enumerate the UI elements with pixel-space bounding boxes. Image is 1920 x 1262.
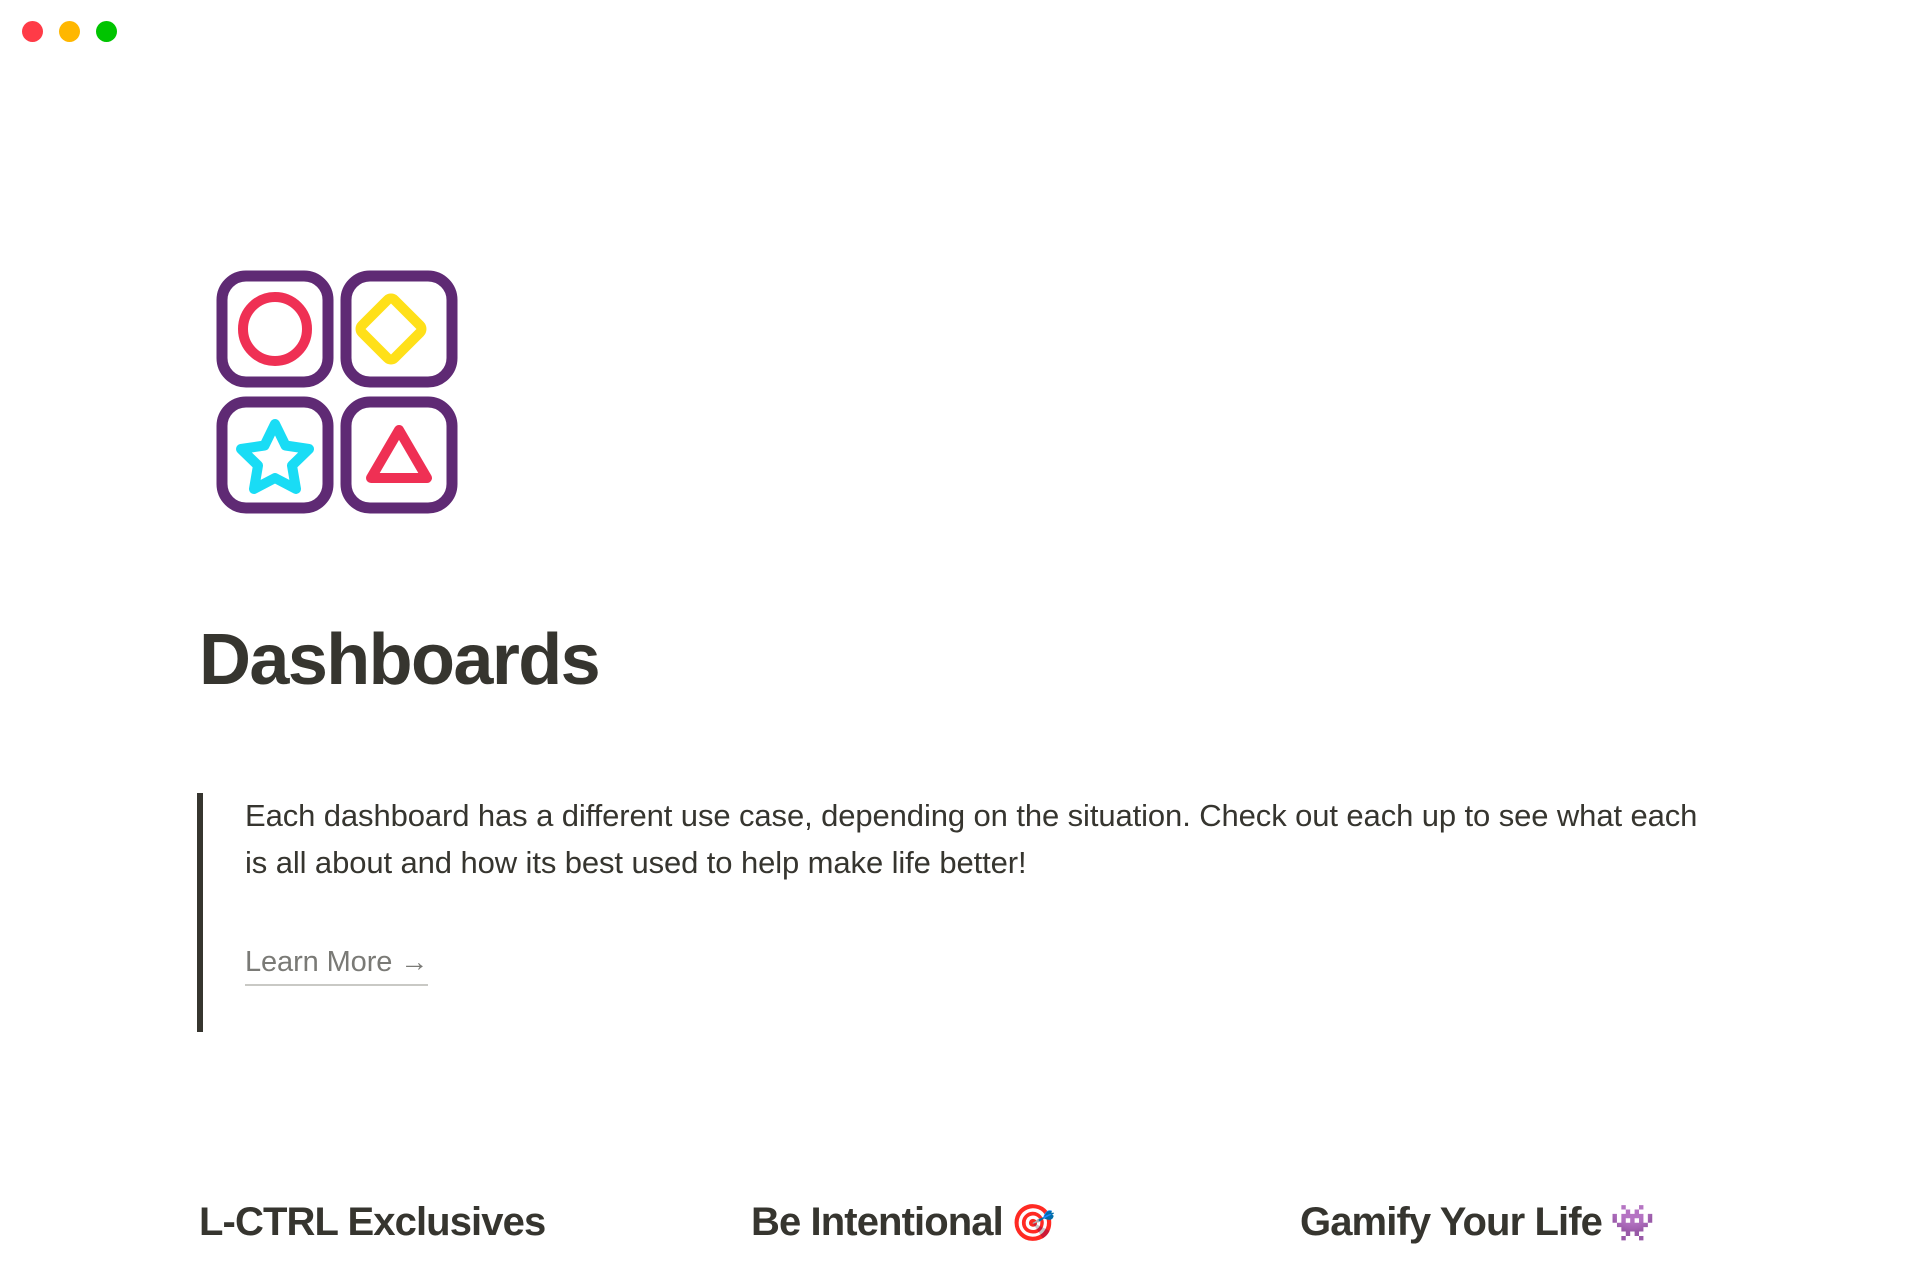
hero-callout: Each dashboard has a different use case,… xyxy=(197,793,1757,1032)
section-heading-exclusives-label: L-CTRL Exclusives xyxy=(199,1200,545,1244)
logo-tile-circle xyxy=(222,276,328,382)
learn-more-link[interactable]: Learn More → xyxy=(245,946,428,986)
window-close-button[interactable] xyxy=(22,21,43,42)
space-invader-icon: 👾 xyxy=(1610,1202,1654,1243)
page-content: Dashboards Each dashboard has a differen… xyxy=(0,62,1920,1200)
section-heading-exclusives[interactable]: L-CTRL Exclusives xyxy=(199,1200,553,1245)
section-heading-gamify-your-life-label: Gamify Your Life xyxy=(1300,1200,1602,1244)
dashboards-logo xyxy=(216,270,466,520)
arrow-right-icon: → xyxy=(400,946,428,977)
logo-tile-star xyxy=(222,402,328,508)
section-heading-be-intentional-label: Be Intentional xyxy=(751,1200,1003,1244)
section-heading-gamify-your-life[interactable]: Gamify Your Life👾 xyxy=(1300,1200,1654,1245)
hero-paragraph: Each dashboard has a different use case,… xyxy=(245,793,1725,886)
window-minimize-button[interactable] xyxy=(59,21,80,42)
window-title-bar xyxy=(0,0,1920,62)
learn-more-label: Learn More xyxy=(245,946,392,978)
window-maximize-button[interactable] xyxy=(96,21,117,42)
page-title: Dashboards xyxy=(199,624,599,696)
section-heading-be-intentional[interactable]: Be Intentional🎯 xyxy=(751,1200,1055,1245)
logo-tile-diamond xyxy=(346,276,452,382)
section-headings-row: L-CTRL Exclusives Be Intentional🎯 Gamify… xyxy=(0,1200,1920,1262)
logo-tile-triangle xyxy=(346,402,452,508)
dartboard-icon: 🎯 xyxy=(1011,1202,1055,1243)
